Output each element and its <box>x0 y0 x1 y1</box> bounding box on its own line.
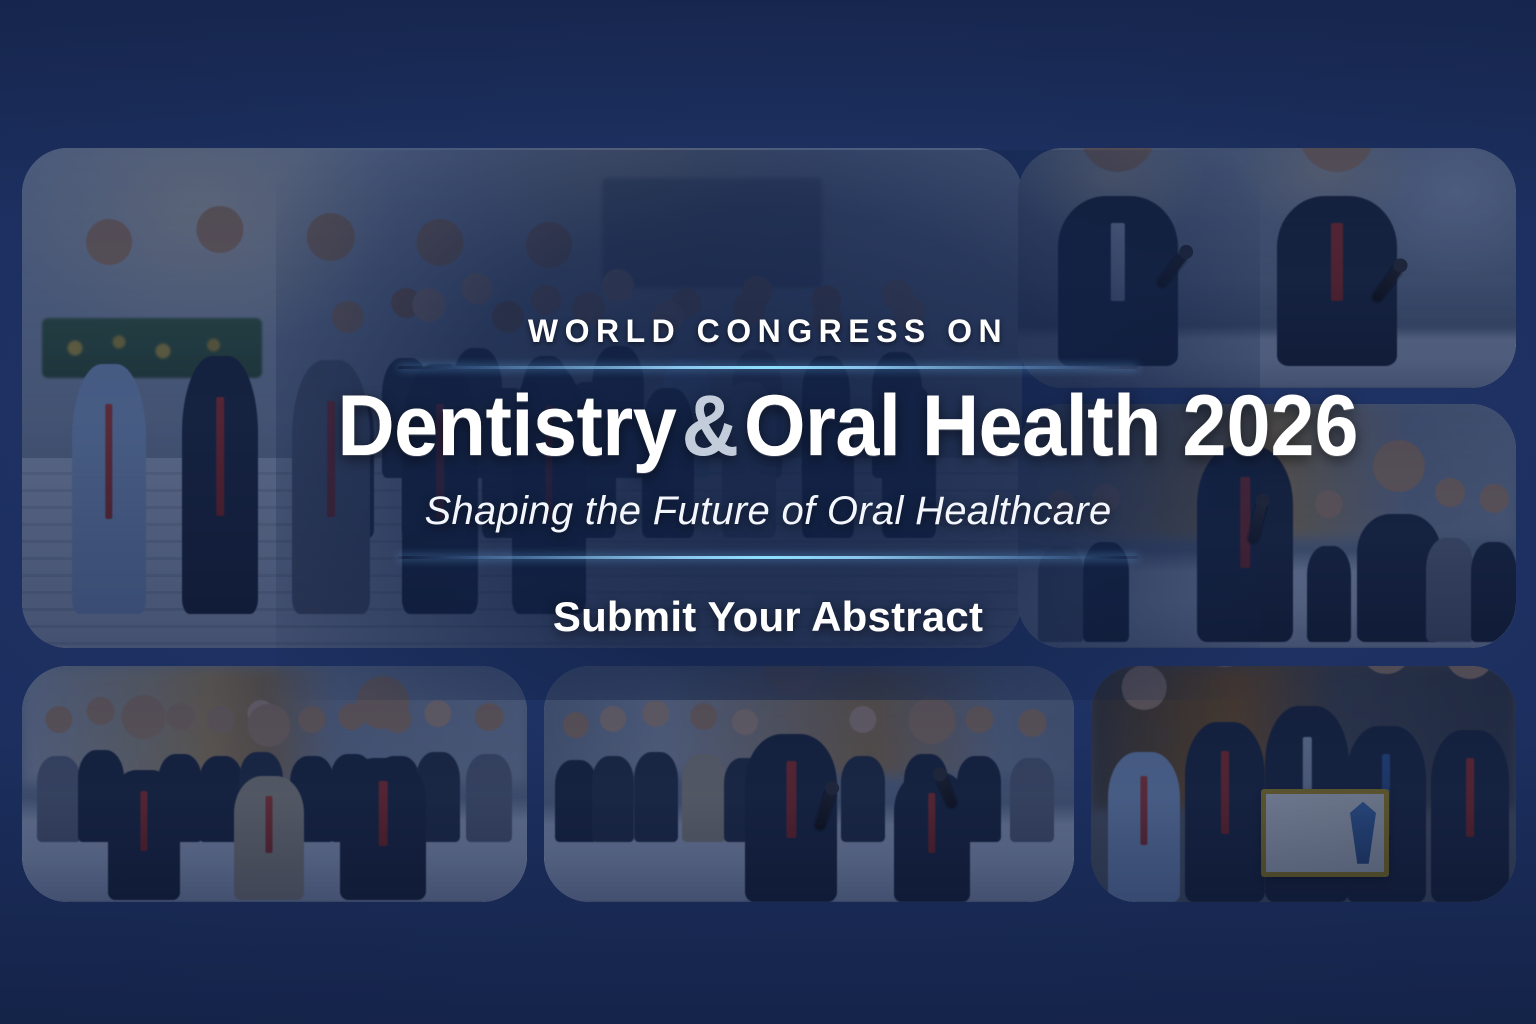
standing-speaker-scene <box>1018 404 1516 648</box>
photo-question-from-floor <box>544 666 1074 902</box>
group-photo-scene <box>22 148 1022 648</box>
photo-group-photo <box>22 148 1022 648</box>
photo-collage <box>0 0 1536 1024</box>
panel-speakers-scene <box>1018 148 1516 388</box>
award-presentation-scene <box>1091 666 1516 902</box>
photo-standing-speaker <box>1018 404 1516 648</box>
photo-panel-speakers <box>1018 148 1516 388</box>
audience-seated-scene <box>22 666 527 902</box>
photo-audience-seated <box>22 666 527 902</box>
question-from-floor-scene <box>544 666 1074 902</box>
photo-award-presentation <box>1091 666 1516 902</box>
